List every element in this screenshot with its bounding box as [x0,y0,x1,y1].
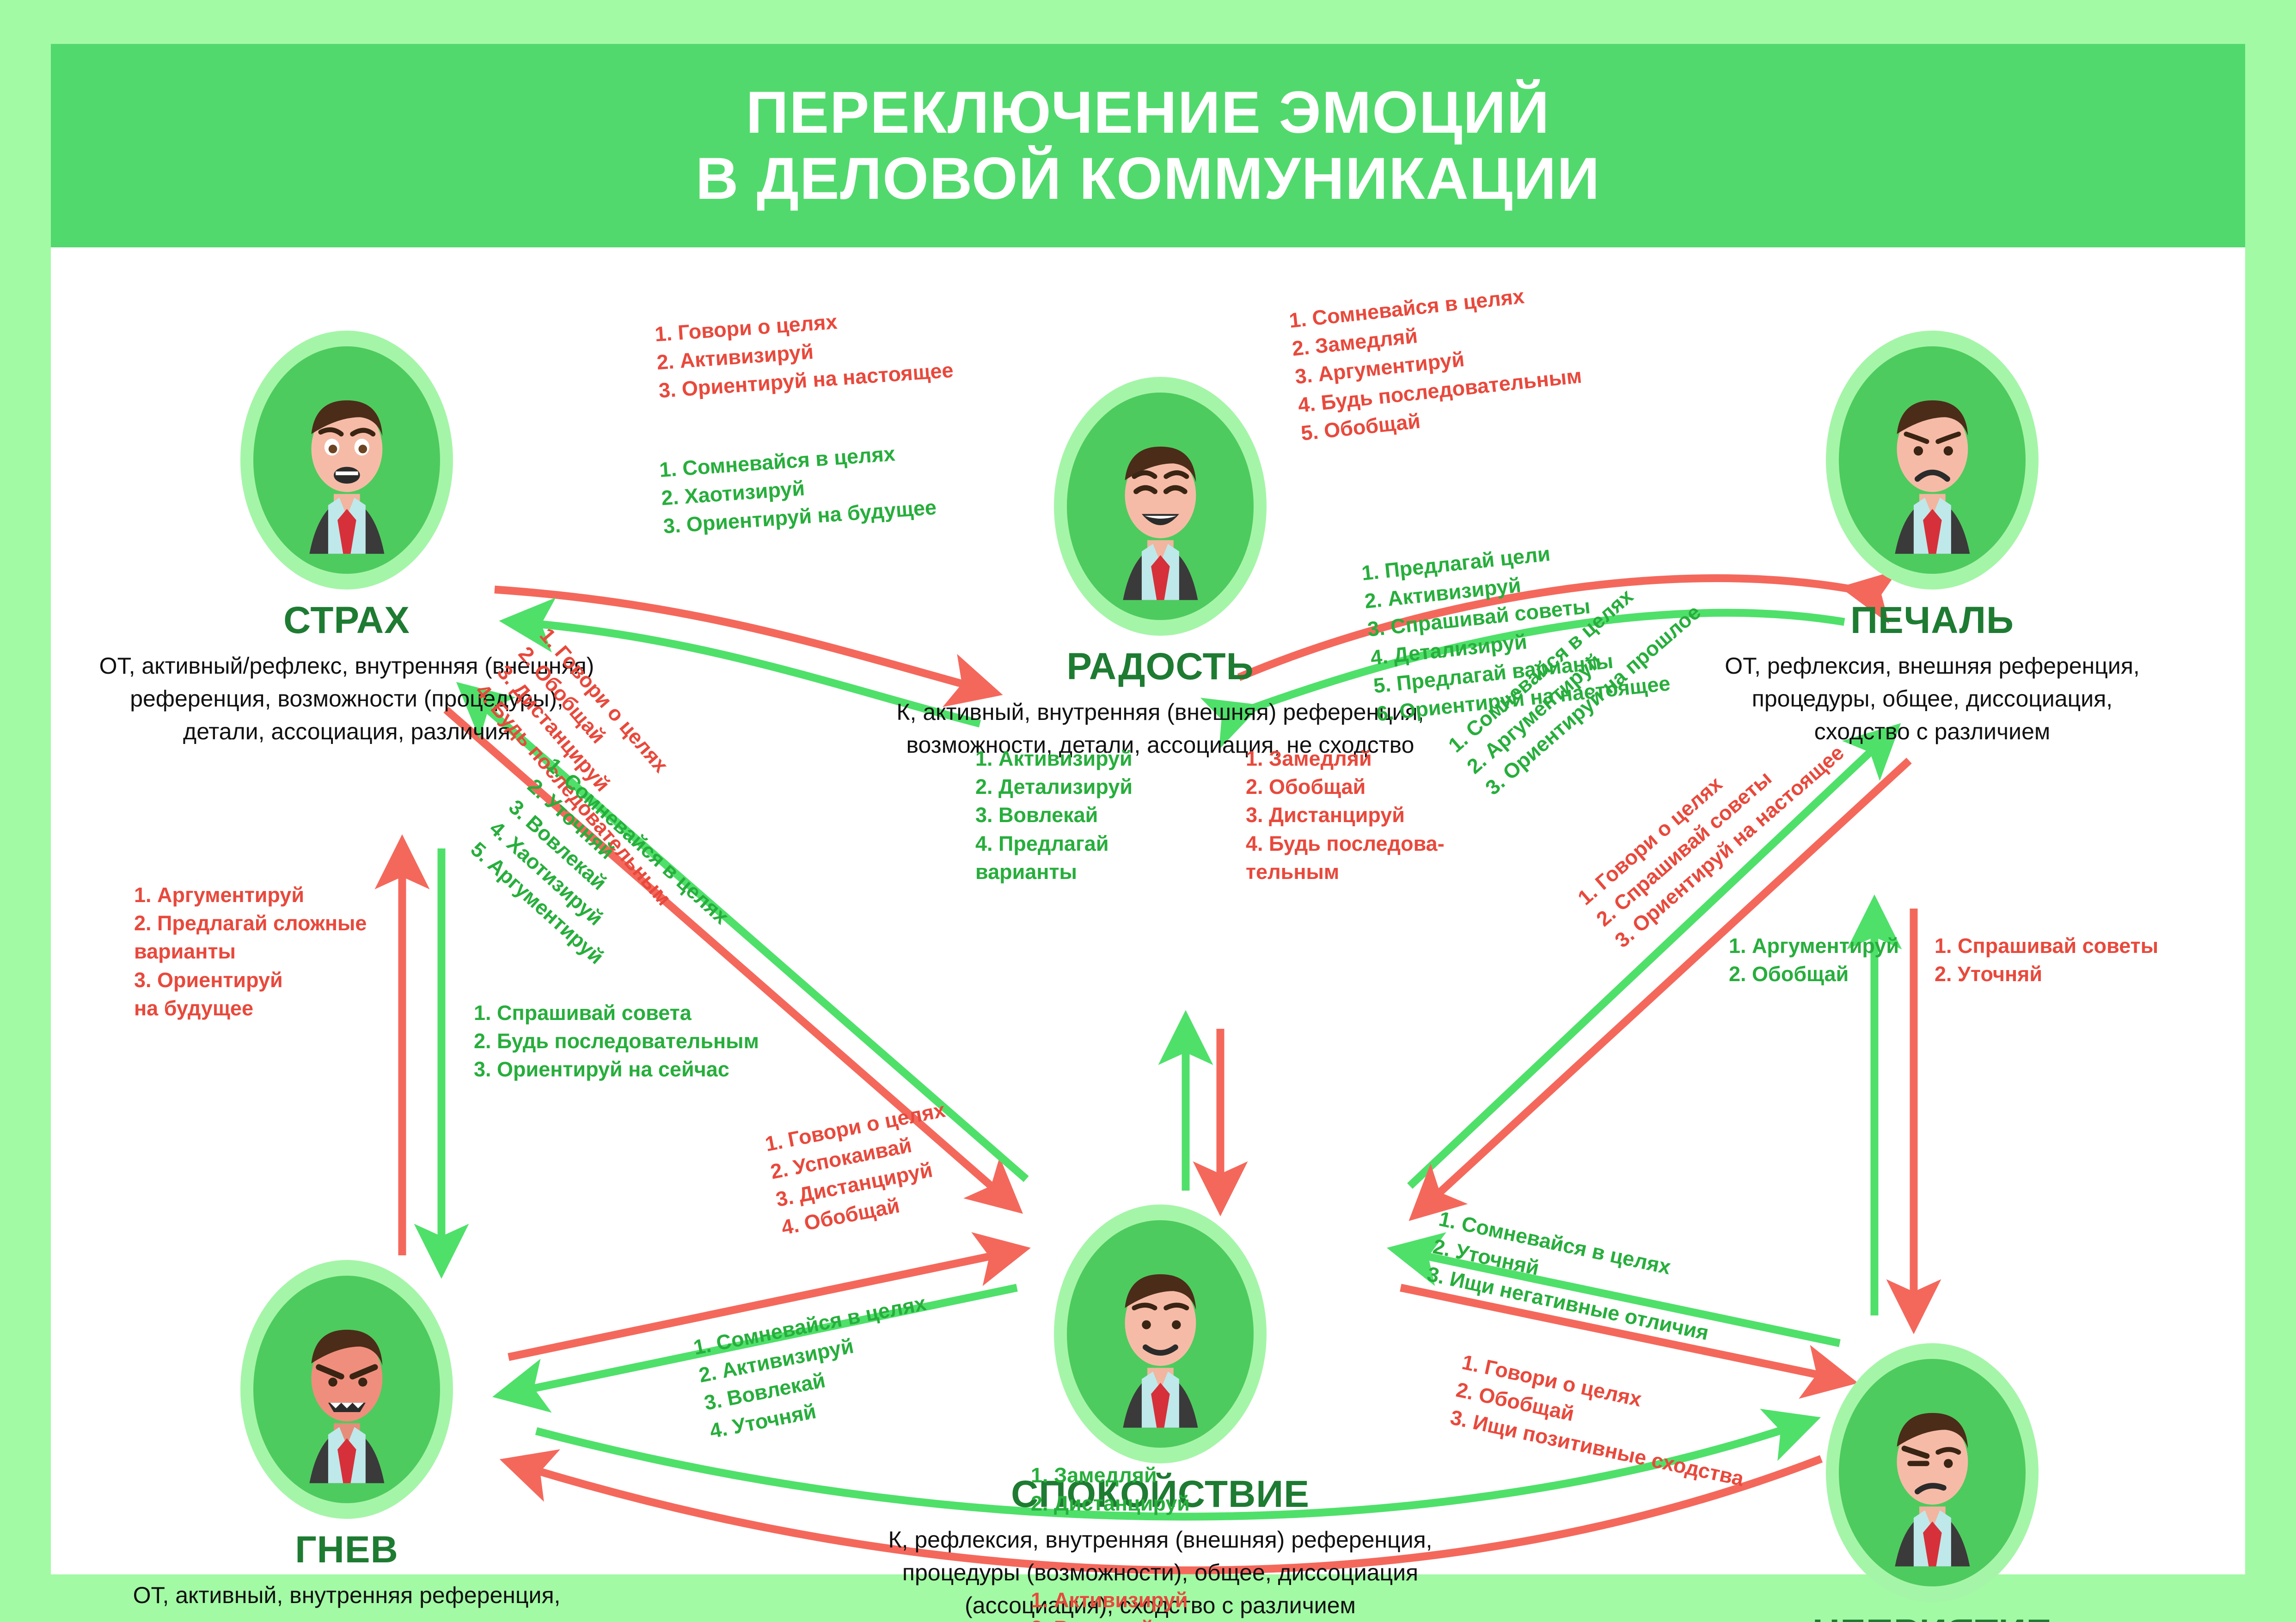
diagram-canvas: СТРАХ ОТ, активный/рефлекс, внутренняя (… [51,247,2245,1574]
edge-label-anger-to-fear: 1. Аргументируй 2. Предлагай сложные вар… [134,881,367,1022]
edge-label-anger-to-rejection: 1. Замедляй 2. Дистанцируй [1031,1461,1190,1518]
sad-face-icon [1839,346,2026,574]
node-label-anger: ГНЕВ [295,1528,398,1572]
avatar-anger [240,1260,453,1519]
node-label-rejection: НЕПРИЯТИЕ [1812,1611,2052,1622]
avatar-sadness [1826,331,2039,590]
fearful-face-icon [253,346,441,574]
calm-face-icon [1067,1220,1254,1448]
node-rejection[interactable]: НЕПРИЯТИЕ ОТ, рефлексия, внутренняя рефе… [1826,1343,2039,1602]
node-joy[interactable]: РАДОСТЬ К, активный, внутренняя (внешняя… [1054,377,1267,636]
edge-label-sadness-to-joy: 1. Сомневайся в целях 2. Замедляй 3. Арг… [1288,277,1586,448]
page-title-line-2: В ДЕЛОВОЙ КОММУНИКАЦИИ [696,146,1600,212]
happy-face-icon [1067,393,1254,621]
edge-label-calm-to-joy: 1. Активизируй 2. Детализируй 3. Вовлека… [975,744,1133,886]
infographic-root: ПЕРЕКЛЮЧЕНИЕ ЭМОЦИЙ В ДЕЛОВОЙ КОММУНИКАЦ… [0,0,2296,1622]
edge-label-rejection-to-sadness: 1. Аргументируй 2. Обобщай [1729,932,1899,988]
node-desc-sadness: ОТ, рефлексия, внешняя референция, проце… [1671,650,2193,748]
node-label-sadness: ПЕЧАЛЬ [1850,599,2014,642]
edge-label-rejection-to-anger: 1. Активизируй 2. Вовлекай [1031,1586,1188,1622]
avatar-fear [240,331,453,590]
node-anger[interactable]: ГНЕВ ОТ, активный, внутренняя референция… [240,1260,453,1519]
avatar-joy [1054,377,1267,636]
node-calm[interactable]: СПОКОЙСТВИЕ К, рефлексия, внутренняя (вн… [1054,1204,1267,1463]
angry-face-icon [253,1276,441,1504]
node-desc-anger: ОТ, активный, внутренняя референция, про… [92,1579,601,1622]
node-fear[interactable]: СТРАХ ОТ, активный/рефлекс, внутренняя (… [240,331,453,590]
avatar-calm [1054,1204,1267,1463]
node-sadness[interactable]: ПЕЧАЛЬ ОТ, рефлексия, внешняя референция… [1826,331,2039,590]
node-label-joy: РАДОСТЬ [1066,645,1254,688]
avatar-rejection [1826,1343,2039,1602]
edge-label-sadness-to-rejection: 1. Спрашивай советы 2. Уточняй [1935,932,2158,988]
edge-label-joy-to-calm: 1. Замедляй 2. Обобщай 3. Дистанцируй 4.… [1246,744,1445,886]
header-banner: ПЕРЕКЛЮЧЕНИЕ ЭМОЦИЙ В ДЕЛОВОЙ КОММУНИКАЦ… [51,44,2245,247]
disgust-face-icon [1839,1359,2026,1587]
node-label-fear: СТРАХ [283,599,410,642]
page-title-line-1: ПЕРЕКЛЮЧЕНИЕ ЭМОЦИЙ [746,80,1550,146]
edge-label-fear-to-anger: 1. Спрашивай совета 2. Будь последовател… [474,999,759,1084]
